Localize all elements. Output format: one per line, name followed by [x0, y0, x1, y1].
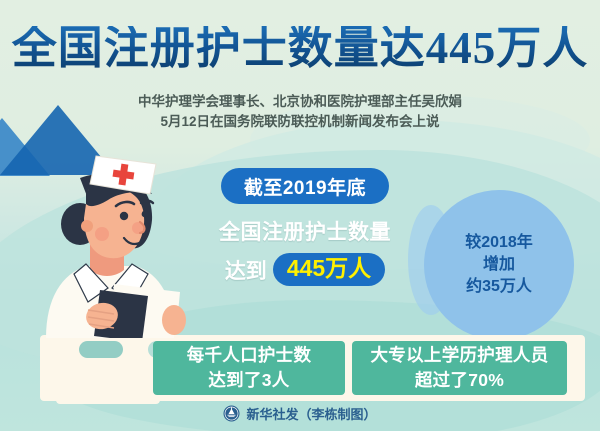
subtitle: 中华护理学会理事长、北京协和医院护理部主任吴欣娟 5月12日在国务院联防联控机制…: [0, 92, 600, 132]
box-right-line-2: 超过了70%: [415, 368, 504, 393]
subtitle-line-1: 中华护理学会理事长、北京协和医院护理部主任吴欣娟: [0, 92, 600, 112]
page-title: 全国注册护士数量达445万人: [0, 26, 600, 71]
box-right-line-1: 大专以上学历护理人员: [371, 343, 549, 368]
growth-circle-text: 较2018年 增加 约35万人: [424, 190, 574, 340]
stat-box-nurses-per-thousand: 每千人口护士数 达到了3人: [153, 341, 345, 395]
growth-line-1: 较2018年: [465, 232, 533, 254]
stat-label: 全国注册护士数量: [170, 216, 440, 246]
box-left-line-2: 达到了3人: [208, 368, 289, 393]
credit-text: 新华社发（李栋制图）: [246, 404, 376, 423]
stat-value-prefix: 达到: [225, 255, 267, 285]
footer-credit: 新华社发（李栋制图）: [0, 404, 600, 423]
growth-line-3: 约35万人: [466, 276, 532, 298]
box-left-line-1: 每千人口护士数: [187, 343, 312, 368]
stat-box-education-level: 大专以上学历护理人员 超过了70%: [352, 341, 567, 395]
infographic-poster: 全国注册护士数量达445万人 中华护理学会理事长、北京协和医院护理部主任吴欣娟 …: [0, 0, 600, 431]
bag-handle-icon: [79, 341, 123, 358]
stat-value-row: 达到 445万人: [170, 253, 440, 286]
date-pill: 截至2019年底: [221, 168, 389, 204]
xinhua-emblem-icon: [223, 405, 240, 422]
subtitle-line-2: 5月12日在国务院联防联控机制新闻发布会上说: [0, 112, 600, 132]
stat-value-highlight: 445万人: [273, 253, 385, 286]
growth-line-2: 增加: [483, 254, 515, 276]
center-stat-block: 截至2019年底 全国注册护士数量 达到 445万人: [170, 168, 440, 286]
